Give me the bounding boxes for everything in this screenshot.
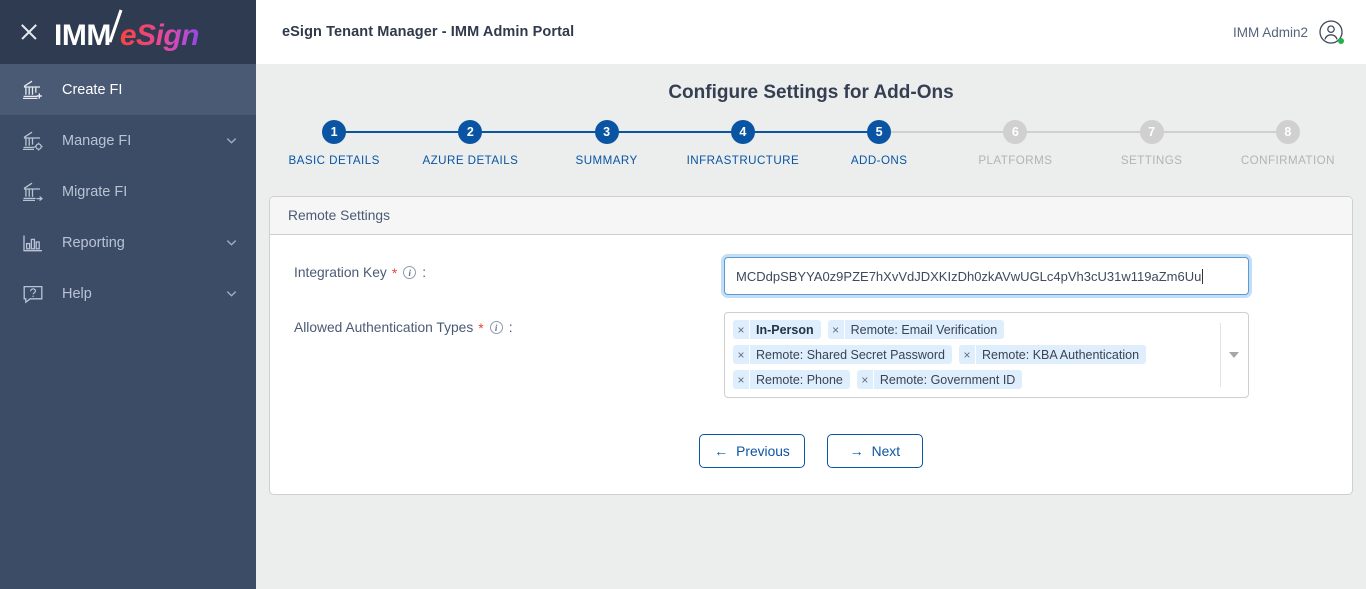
sidebar-item-help[interactable]: Help <box>0 268 256 319</box>
status-dot <box>1338 38 1344 44</box>
user-avatar-icon[interactable] <box>1318 19 1344 45</box>
step-label: BASIC DETAILS <box>288 154 379 167</box>
tag-label: Remote: Shared Secret Password <box>750 348 952 362</box>
bar-chart-icon <box>20 230 46 256</box>
multiselect-divider <box>1220 323 1221 387</box>
required-asterisk: * <box>478 321 483 335</box>
step-connector <box>470 131 606 133</box>
chevron-down-icon[interactable] <box>1229 352 1239 358</box>
sidebar-item-label: Reporting <box>62 235 209 251</box>
integration-key-row: Integration Key * i : MCDdpSBYYA0z9PZE7h… <box>270 257 1352 295</box>
sidebar: IMMeSign Create FI <box>0 0 256 589</box>
step-confirmation[interactable]: 8 CONFIRMATION <box>1220 120 1356 167</box>
close-icon[interactable] <box>18 21 40 43</box>
tag-label: Remote: Government ID <box>874 373 1022 387</box>
step-settings[interactable]: 7 SETTINGS <box>1084 120 1220 167</box>
remote-settings-card: Remote Settings Integration Key * i : MC… <box>269 196 1353 495</box>
step-azure-details[interactable]: 2 AZURE DETAILS <box>402 120 538 167</box>
auth-types-row: Allowed Authentication Types * i : × In-… <box>270 312 1352 398</box>
topbar: eSign Tenant Manager - IMM Admin Portal … <box>256 0 1366 64</box>
step-label: CONFIRMATION <box>1241 154 1335 167</box>
tag-remote-kba-authentication: × Remote: KBA Authentication <box>959 345 1146 364</box>
tag-label: Remote: KBA Authentication <box>976 348 1146 362</box>
step-connector <box>879 131 1015 133</box>
app-logo: IMMeSign <box>54 11 202 53</box>
chevron-down-icon[interactable] <box>225 134 238 147</box>
step-number: 6 <box>1003 120 1027 144</box>
arrow-right-icon: → <box>850 444 864 458</box>
chevron-down-icon[interactable] <box>225 287 238 300</box>
step-number: 3 <box>595 120 619 144</box>
logo-esign: eSign <box>120 19 202 53</box>
remove-tag-icon[interactable]: × <box>733 345 750 364</box>
step-number: 1 <box>322 120 346 144</box>
remove-tag-icon[interactable]: × <box>857 370 874 389</box>
text-caret <box>1202 269 1203 284</box>
sidebar-header: IMMeSign <box>0 0 256 64</box>
arrow-left-icon: ← <box>714 444 728 458</box>
remove-tag-icon[interactable]: × <box>733 370 750 389</box>
required-asterisk: * <box>392 266 397 280</box>
tag-label: In-Person <box>750 323 821 337</box>
step-connector <box>1152 131 1288 133</box>
step-basic-details[interactable]: 1 BASIC DETAILS <box>266 120 402 167</box>
page-title: Configure Settings for Add-Ons <box>256 82 1366 104</box>
integration-key-value: MCDdpSBYYA0z9PZE7hXvVdJDXKIzDh0zkAVwUGLc… <box>736 269 1201 284</box>
main-area: eSign Tenant Manager - IMM Admin Portal … <box>256 0 1366 589</box>
integration-key-label: Integration Key * i : <box>294 257 724 280</box>
step-connector <box>743 131 879 133</box>
wizard-actions: ← Previous → Next <box>270 434 1352 468</box>
step-number: 2 <box>458 120 482 144</box>
step-infrastructure[interactable]: 4 INFRASTRUCTURE <box>675 120 811 167</box>
sidebar-nav: Create FI Manage FI <box>0 64 256 319</box>
tag-remote-shared-secret-password: × Remote: Shared Secret Password <box>733 345 952 364</box>
bank-arrow-icon <box>20 179 46 205</box>
step-label: PLATFORMS <box>978 154 1052 167</box>
card-body: Integration Key * i : MCDdpSBYYA0z9PZE7h… <box>270 235 1352 494</box>
step-label: SUMMARY <box>576 154 638 167</box>
integration-key-label-text: Integration Key <box>294 265 387 280</box>
step-label: ADD-ONS <box>851 154 908 167</box>
topbar-title: eSign Tenant Manager - IMM Admin Portal <box>282 24 574 40</box>
auth-types-multiselect[interactable]: × In-Person × Remote: Email Verification… <box>724 312 1249 398</box>
remove-tag-icon[interactable]: × <box>828 320 845 339</box>
integration-key-input[interactable]: MCDdpSBYYA0z9PZE7hXvVdJDXKIzDh0zkAVwUGLc… <box>724 257 1249 295</box>
stepper-steps: 1 BASIC DETAILS 2 AZURE DETAILS 3 SUMMAR… <box>266 120 1356 167</box>
logo-imm: IMM <box>54 19 111 53</box>
chevron-down-icon[interactable] <box>225 236 238 249</box>
app-root: IMMeSign Create FI <box>0 0 1366 589</box>
sidebar-item-migrate-fi[interactable]: Migrate FI <box>0 166 256 217</box>
tag-label: Remote: Phone <box>750 373 850 387</box>
card-header: Remote Settings <box>270 197 1352 235</box>
step-label: AZURE DETAILS <box>422 154 518 167</box>
next-button-label: Next <box>872 444 900 459</box>
step-label: SETTINGS <box>1121 154 1183 167</box>
auth-types-label-text: Allowed Authentication Types <box>294 320 473 335</box>
tag-remote-email-verification: × Remote: Email Verification <box>828 320 1005 339</box>
content-area: Configure Settings for Add-Ons 1 BASIC D… <box>256 64 1366 589</box>
auth-types-control: × In-Person × Remote: Email Verification… <box>724 312 1328 398</box>
logo-slash-icon <box>109 11 122 45</box>
label-colon: : <box>422 265 426 280</box>
sidebar-item-create-fi[interactable]: Create FI <box>0 64 256 115</box>
tag-remote-phone: × Remote: Phone <box>733 370 850 389</box>
tag-in-person: × In-Person <box>733 320 821 339</box>
tag-remote-government-id: × Remote: Government ID <box>857 370 1022 389</box>
remove-tag-icon[interactable]: × <box>959 345 976 364</box>
sidebar-item-label: Migrate FI <box>62 184 238 200</box>
step-label: INFRASTRUCTURE <box>687 154 800 167</box>
step-platforms[interactable]: 6 PLATFORMS <box>947 120 1083 167</box>
sidebar-item-reporting[interactable]: Reporting <box>0 217 256 268</box>
sidebar-item-manage-fi[interactable]: Manage FI <box>0 115 256 166</box>
topbar-user-area[interactable]: IMM Admin2 <box>1233 19 1344 45</box>
remove-tag-icon[interactable]: × <box>733 320 750 339</box>
auth-types-label: Allowed Authentication Types * i : <box>294 312 724 335</box>
sidebar-item-label: Help <box>62 286 209 302</box>
sidebar-item-label: Manage FI <box>62 133 209 149</box>
step-connector <box>607 131 743 133</box>
bank-gear-icon <box>20 128 46 154</box>
step-number: 7 <box>1140 120 1164 144</box>
bank-add-icon <box>20 77 46 103</box>
step-connector <box>1015 131 1151 133</box>
integration-key-control: MCDdpSBYYA0z9PZE7hXvVdJDXKIzDh0zkAVwUGLc… <box>724 257 1328 295</box>
question-chat-icon <box>20 281 46 307</box>
info-icon[interactable]: i <box>403 266 416 279</box>
step-connector <box>334 131 470 133</box>
step-summary[interactable]: 3 SUMMARY <box>539 120 675 167</box>
label-colon: : <box>509 320 513 335</box>
sidebar-item-label: Create FI <box>62 82 238 98</box>
tag-label: Remote: Email Verification <box>845 323 1005 337</box>
next-button[interactable]: → Next <box>827 434 923 468</box>
step-add-ons[interactable]: 5 ADD-ONS <box>811 120 947 167</box>
step-number: 8 <box>1276 120 1300 144</box>
wizard-stepper: 1 BASIC DETAILS 2 AZURE DETAILS 3 SUMMAR… <box>266 120 1356 182</box>
info-icon[interactable]: i <box>490 321 503 334</box>
user-name: IMM Admin2 <box>1233 25 1308 40</box>
step-number: 4 <box>731 120 755 144</box>
step-number: 5 <box>867 120 891 144</box>
previous-button[interactable]: ← Previous <box>699 434 805 468</box>
previous-button-label: Previous <box>736 444 790 459</box>
